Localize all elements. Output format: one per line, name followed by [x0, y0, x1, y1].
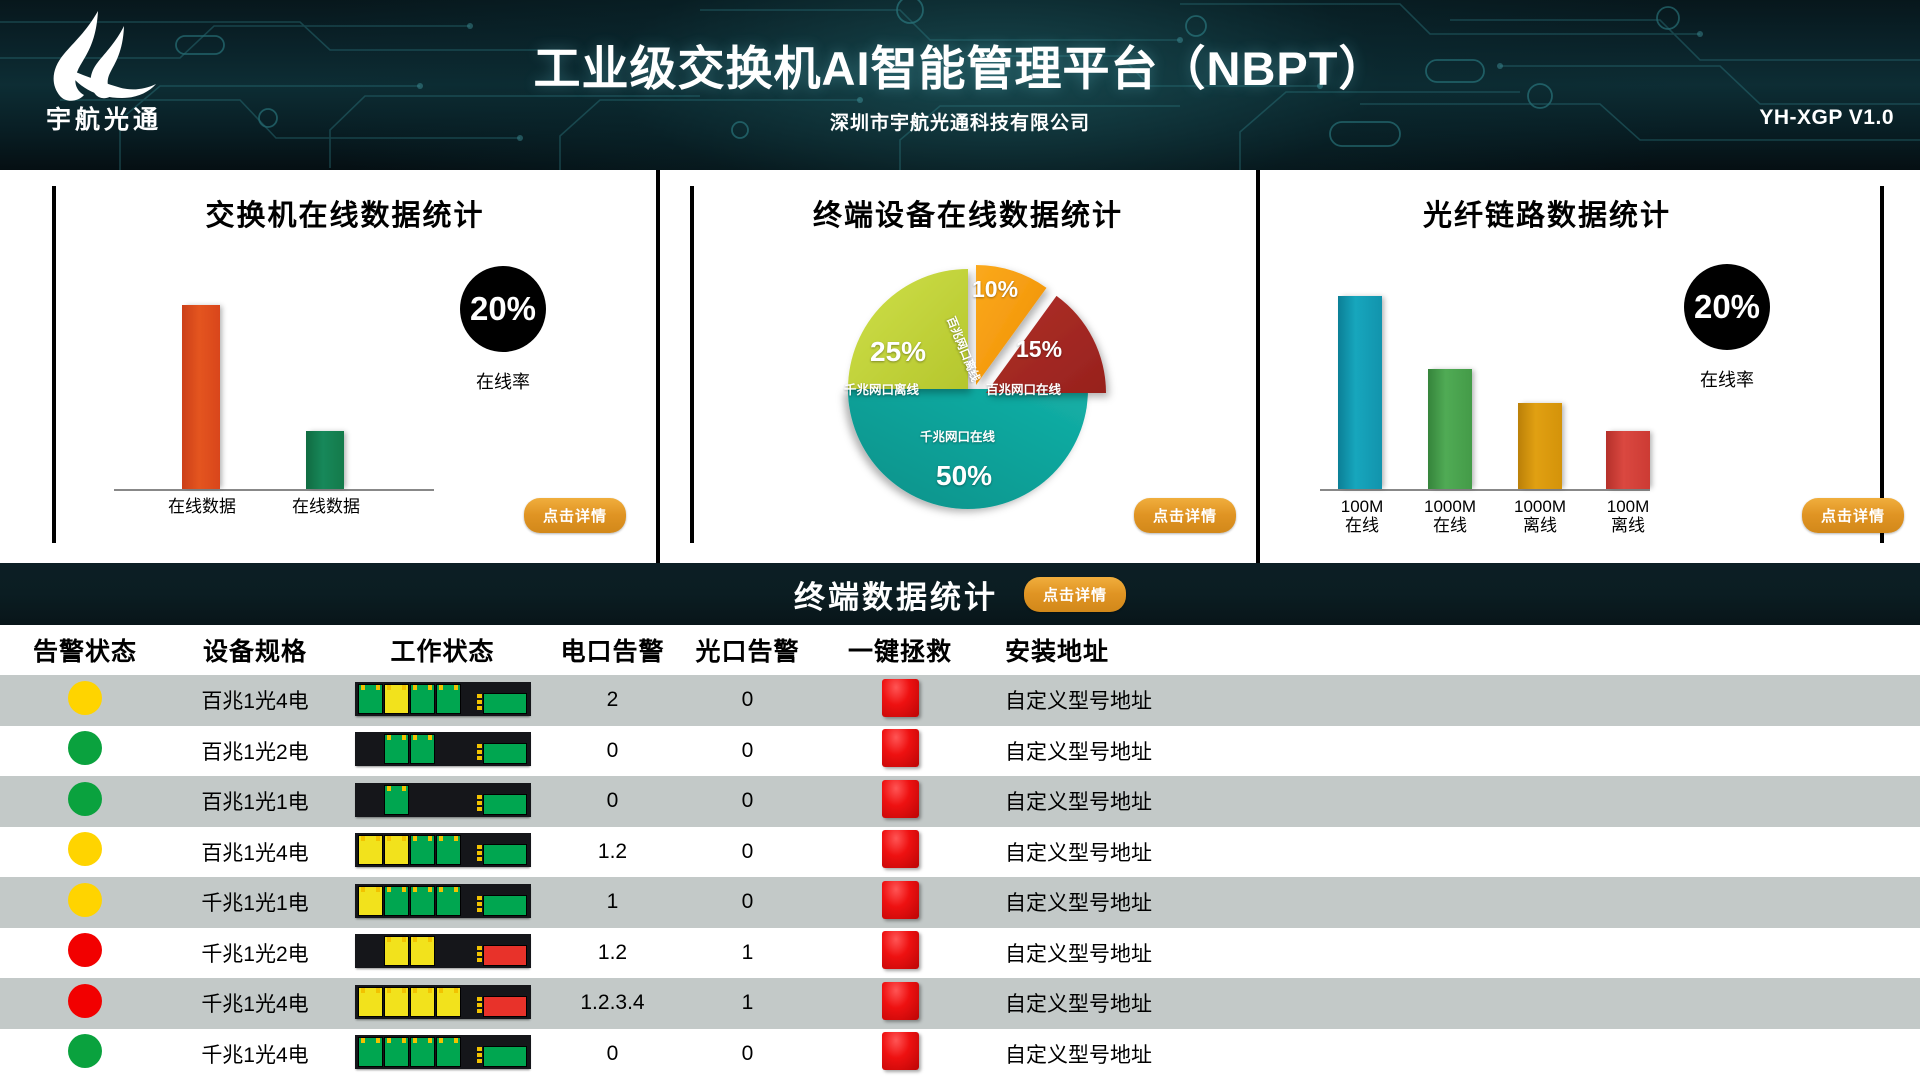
alarm-led-green-icon — [68, 782, 102, 816]
port-slot-green[interactable] — [410, 1037, 435, 1067]
port-slot-empty — [436, 734, 461, 764]
page-title: 工业级交换机AI智能管理平台（NBPT） — [0, 30, 1920, 99]
cell-one-key-rescue — [815, 679, 985, 722]
table-row[interactable]: 百兆1光4电1.20自定义型号地址 — [0, 827, 1920, 878]
cell-electric-alarm: 0 — [545, 739, 680, 763]
one-key-rescue-button[interactable] — [882, 679, 919, 717]
fiber-online-rate-caption: 在线率 — [1667, 366, 1787, 392]
pie-value-fast-offline: 10% — [972, 276, 1018, 303]
alarm-led-yellow-icon — [68, 832, 102, 866]
switch-online-rate-caption: 在线率 — [443, 368, 563, 394]
switch-bar-online-2 — [306, 431, 344, 489]
pie-label-gigabit-online: 千兆网口在线 — [920, 426, 995, 445]
one-key-rescue-button[interactable] — [882, 982, 919, 1020]
cell-electric-alarm: 0 — [545, 1042, 680, 1066]
cell-work-status[interactable] — [340, 884, 545, 921]
port-slot-green[interactable] — [358, 684, 383, 714]
section-detail-button[interactable]: 点击详情 — [1024, 577, 1126, 612]
port-slot-empty — [358, 734, 383, 764]
cell-one-key-rescue — [815, 729, 985, 772]
switch-bar-label-2: 在线数据 — [274, 497, 378, 516]
dashboard-root: 宇航光通 工业级交换机AI智能管理平台（NBPT） 深圳市宇航光通科技有限公司 … — [0, 0, 1920, 1080]
port-slot-green[interactable] — [436, 684, 461, 714]
port-slot-green[interactable] — [436, 886, 461, 916]
cell-optical-alarm: 1 — [680, 991, 815, 1015]
cell-optical-alarm: 0 — [680, 739, 815, 763]
cell-install-address: 自定义型号地址 — [985, 837, 1485, 867]
port-slot-yellow[interactable] — [410, 936, 435, 966]
fiber-bar-1000m-offline — [1518, 403, 1562, 489]
cell-alarm-status — [0, 933, 170, 972]
alarm-led-red-icon — [68, 933, 102, 967]
port-slot-green[interactable] — [436, 835, 461, 865]
optical-port-green[interactable] — [483, 1046, 527, 1067]
cell-one-key-rescue — [815, 1032, 985, 1075]
port-slot-empty — [410, 785, 435, 815]
fiber-chart-title: 光纤链路数据统计 — [1274, 192, 1820, 234]
cell-alarm-status — [0, 832, 170, 871]
column-header-optical-alarm: 光口告警 — [680, 632, 815, 668]
port-slot-yellow[interactable] — [436, 987, 461, 1017]
fiber-detail-button[interactable]: 点击详情 — [1802, 498, 1904, 533]
one-key-rescue-button[interactable] — [882, 830, 919, 868]
switch-bar-online-1 — [182, 305, 220, 489]
pie-label-fast-online: 百兆网口在线 — [986, 379, 1061, 398]
cell-device-spec: 百兆1光1电 — [170, 786, 340, 816]
port-slot-yellow[interactable] — [410, 987, 435, 1017]
cell-alarm-status — [0, 731, 170, 770]
cell-electric-alarm: 1 — [545, 890, 680, 914]
cell-optical-alarm: 0 — [680, 1042, 815, 1066]
cell-one-key-rescue — [815, 780, 985, 823]
port-status-widget[interactable] — [355, 884, 531, 918]
cell-install-address: 自定义型号地址 — [985, 685, 1485, 715]
port-slot-green[interactable] — [436, 1037, 461, 1067]
cell-alarm-status — [0, 681, 170, 720]
one-key-rescue-button[interactable] — [882, 780, 919, 818]
fiber-online-rate-bubble: 20% — [1684, 264, 1770, 350]
terminal-data-table: 告警状态 设备规格 工作状态 电口告警 光口告警 一键拯救 安装地址 百兆1光4… — [0, 625, 1920, 1080]
alarm-led-yellow-icon — [68, 681, 102, 715]
cell-install-address: 自定义型号地址 — [985, 786, 1485, 816]
cell-install-address: 自定义型号地址 — [985, 938, 1485, 968]
port-slot-green[interactable] — [410, 886, 435, 916]
port-status-widget[interactable] — [355, 833, 531, 867]
cell-optical-alarm: 0 — [680, 890, 815, 914]
port-slot-yellow[interactable] — [358, 886, 383, 916]
optical-port-red[interactable] — [483, 996, 527, 1017]
pie-label-gigabit-offline: 千兆网口离线 — [844, 379, 919, 398]
table-row[interactable]: 百兆1光1电00自定义型号地址 — [0, 776, 1920, 827]
cell-work-status[interactable] — [340, 934, 545, 971]
pie-value-gigabit-offline: 25% — [870, 336, 926, 368]
fiber-bar-chart: 100M 在线 1000M 在线 1000M 离线 100M 离线 — [1320, 261, 1650, 491]
port-slot-green[interactable] — [384, 734, 409, 764]
port-slot-yellow[interactable] — [384, 684, 409, 714]
port-slot-empty — [358, 785, 383, 815]
cell-install-address: 自定义型号地址 — [985, 1039, 1485, 1069]
cell-optical-alarm: 0 — [680, 688, 815, 712]
terminal-detail-button[interactable]: 点击详情 — [1134, 498, 1236, 533]
cell-work-status[interactable] — [340, 985, 545, 1022]
optical-port-green[interactable] — [483, 895, 527, 916]
panel-switch-statistics: 交换机在线数据统计 在线数据 在线数据 20% 在线率 点击详情 — [0, 170, 660, 563]
switch-chart-title: 交换机在线数据统计 — [56, 192, 634, 234]
optical-port-red[interactable] — [483, 945, 527, 966]
cell-optical-alarm: 1 — [680, 941, 815, 965]
switch-detail-button[interactable]: 点击详情 — [524, 498, 626, 533]
table-row[interactable]: 千兆1光4电1.2.3.41自定义型号地址 — [0, 978, 1920, 1029]
switch-bar-chart: 在线数据 在线数据 — [114, 261, 434, 491]
port-slot-empty — [436, 785, 461, 815]
switch-online-rate-bubble: 20% — [460, 266, 546, 352]
cell-work-status[interactable] — [340, 833, 545, 870]
cell-electric-alarm: 0 — [545, 789, 680, 813]
cell-install-address: 自定义型号地址 — [985, 988, 1485, 1018]
fiber-bar-100m-online — [1338, 296, 1382, 489]
cell-electric-alarm: 1.2 — [545, 840, 680, 864]
panel-terminal-statistics: 终端设备在线数据统计 — [660, 170, 1260, 563]
cell-alarm-status — [0, 782, 170, 821]
port-slot-empty — [436, 936, 461, 966]
fiber-bar-label-2: 1000M 在线 — [1400, 497, 1500, 535]
alarm-led-yellow-icon — [68, 883, 102, 917]
fiber-bar-1000m-online — [1428, 369, 1472, 489]
charts-strip: 交换机在线数据统计 在线数据 在线数据 20% 在线率 点击详情 终端设备在线数… — [0, 170, 1920, 563]
port-status-widget[interactable] — [355, 682, 531, 716]
cell-one-key-rescue — [815, 982, 985, 1025]
cell-alarm-status — [0, 984, 170, 1023]
column-header-alarm-status: 告警状态 — [0, 632, 170, 668]
port-slot-yellow[interactable] — [384, 936, 409, 966]
table-row[interactable]: 百兆1光2电00自定义型号地址 — [0, 726, 1920, 777]
pie-value-fast-online: 15% — [1016, 336, 1062, 363]
fiber-chart-axis — [1320, 489, 1650, 491]
section-title: 终端数据统计 — [794, 572, 998, 617]
port-slot-green[interactable] — [384, 1037, 409, 1067]
port-status-widget[interactable] — [355, 985, 531, 1019]
port-slot-green[interactable] — [410, 684, 435, 714]
cell-optical-alarm: 0 — [680, 840, 815, 864]
cell-device-spec: 千兆1光4电 — [170, 1039, 340, 1069]
port-slot-yellow[interactable] — [384, 987, 409, 1017]
cell-install-address: 自定义型号地址 — [985, 736, 1485, 766]
one-key-rescue-button[interactable] — [882, 1032, 919, 1070]
cell-work-status[interactable] — [340, 732, 545, 769]
cell-alarm-status — [0, 1034, 170, 1073]
port-slot-yellow[interactable] — [384, 835, 409, 865]
one-key-rescue-button[interactable] — [882, 881, 919, 919]
port-slot-yellow[interactable] — [358, 835, 383, 865]
cell-alarm-status — [0, 883, 170, 922]
page-header: 宇航光通 工业级交换机AI智能管理平台（NBPT） 深圳市宇航光通科技有限公司 … — [0, 0, 1920, 170]
terminal-pie-chart: 25% 千兆网口离线 10% 百兆网口离线 15% 百兆网口在线 千兆网口在线 … — [808, 244, 1128, 534]
switch-bar-label-1: 在线数据 — [150, 497, 254, 516]
alarm-led-red-icon — [68, 984, 102, 1018]
optical-port-green[interactable] — [483, 844, 527, 865]
cell-electric-alarm: 1.2.3.4 — [545, 991, 680, 1015]
company-subtitle: 深圳市宇航光通科技有限公司 — [0, 108, 1920, 135]
column-header-device-spec: 设备规格 — [170, 632, 340, 668]
port-slot-green[interactable] — [410, 734, 435, 764]
one-key-rescue-button[interactable] — [882, 729, 919, 767]
terminal-data-section-bar: 终端数据统计 点击详情 — [0, 563, 1920, 625]
cell-device-spec: 百兆1光2电 — [170, 736, 340, 766]
cell-device-spec: 百兆1光4电 — [170, 837, 340, 867]
fiber-bar-label-4: 100M 离线 — [1578, 497, 1678, 535]
column-header-one-key-rescue: 一键拯救 — [815, 632, 985, 668]
optical-port-green[interactable] — [483, 794, 527, 815]
port-slot-empty — [358, 936, 383, 966]
cell-electric-alarm: 2 — [545, 688, 680, 712]
optical-port-green[interactable] — [483, 743, 527, 764]
optical-port-green[interactable] — [483, 693, 527, 714]
column-header-work-status: 工作状态 — [340, 632, 545, 668]
cell-device-spec: 百兆1光4电 — [170, 685, 340, 715]
fiber-bar-100m-offline — [1606, 431, 1650, 489]
fiber-bar-label-1: 100M 在线 — [1312, 497, 1412, 535]
table-row[interactable]: 百兆1光4电20自定义型号地址 — [0, 675, 1920, 726]
version-label: YH-XGP V1.0 — [1759, 106, 1894, 130]
switch-chart-axis — [114, 489, 434, 491]
cell-device-spec: 千兆1光1电 — [170, 887, 340, 917]
terminal-chart-title: 终端设备在线数据统计 — [694, 192, 1242, 234]
table-row[interactable]: 千兆1光1电10自定义型号地址 — [0, 877, 1920, 928]
cell-optical-alarm: 0 — [680, 789, 815, 813]
port-slot-green[interactable] — [384, 886, 409, 916]
port-slot-green[interactable] — [384, 785, 409, 815]
port-status-widget[interactable] — [355, 783, 531, 817]
port-status-widget[interactable] — [355, 934, 531, 968]
port-slot-yellow[interactable] — [358, 987, 383, 1017]
pie-value-gigabit-online: 50% — [936, 460, 992, 492]
cell-one-key-rescue — [815, 931, 985, 974]
table-row[interactable]: 千兆1光4电00自定义型号地址 — [0, 1029, 1920, 1080]
cell-one-key-rescue — [815, 830, 985, 873]
port-slot-green[interactable] — [410, 835, 435, 865]
port-status-widget[interactable] — [355, 1035, 531, 1069]
column-header-electric-alarm: 电口告警 — [545, 632, 680, 668]
table-body: 百兆1光4电20自定义型号地址百兆1光2电00自定义型号地址百兆1光1电00自定… — [0, 675, 1920, 1079]
cell-device-spec: 千兆1光4电 — [170, 988, 340, 1018]
table-header-row: 告警状态 设备规格 工作状态 电口告警 光口告警 一键拯救 安装地址 — [0, 625, 1920, 675]
column-header-install-address: 安装地址 — [985, 632, 1485, 668]
cell-one-key-rescue — [815, 881, 985, 924]
port-slot-green[interactable] — [358, 1037, 383, 1067]
fiber-bar-label-3: 1000M 离线 — [1490, 497, 1590, 535]
alarm-led-green-icon — [68, 731, 102, 765]
alarm-led-green-icon — [68, 1034, 102, 1068]
table-row[interactable]: 千兆1光2电1.21自定义型号地址 — [0, 928, 1920, 979]
cell-install-address: 自定义型号地址 — [985, 887, 1485, 917]
one-key-rescue-button[interactable] — [882, 931, 919, 969]
cell-device-spec: 千兆1光2电 — [170, 938, 340, 968]
cell-work-status[interactable] — [340, 1035, 545, 1072]
cell-work-status[interactable] — [340, 783, 545, 820]
cell-electric-alarm: 1.2 — [545, 941, 680, 965]
panel-fiber-statistics: 光纤链路数据统计 100M 在线 1000M 在线 1000M 离线 100M … — [1260, 170, 1920, 563]
cell-work-status[interactable] — [340, 682, 545, 719]
port-status-widget[interactable] — [355, 732, 531, 766]
